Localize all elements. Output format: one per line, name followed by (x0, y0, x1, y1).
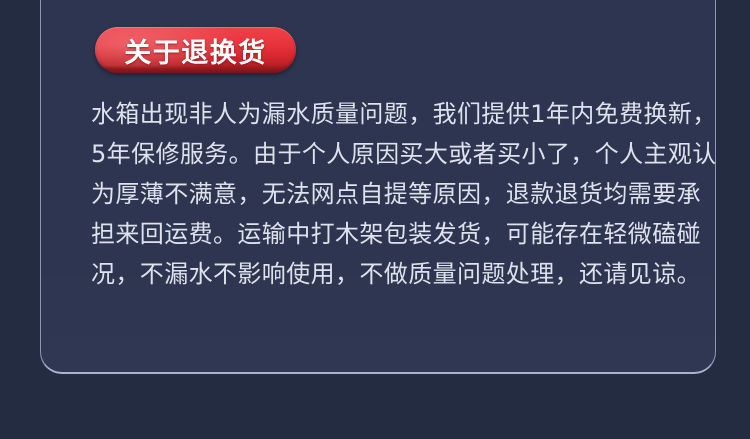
policy-text-block: 水箱出现非人为漏水质量问题，我们提供1年内免费换新， 5年保修服务。由于个人原因… (91, 94, 667, 294)
section-badge: 关于退换货 (95, 27, 296, 73)
badge-title: 关于退换货 (95, 27, 296, 73)
policy-text-line-5: 况，不漏水不影响使用，不做质量问题处理，还请见谅。 (91, 254, 667, 294)
policy-text-line-4: 担来回运费。运输中打木架包装发货，可能存在轻微磕碰 (91, 214, 667, 254)
policy-text-line-1: 水箱出现非人为漏水质量问题，我们提供1年内免费换新， (91, 94, 667, 134)
page-canvas: 关于退换货 水箱出现非人为漏水质量问题，我们提供1年内免费换新， 5年保修服务。… (0, 0, 750, 439)
policy-text-line-2: 5年保修服务。由于个人原因买大或者买小了，个人主观认 (91, 134, 667, 174)
policy-text-line-3: 为厚薄不满意，无法网点自提等原因，退款退货均需要承 (91, 174, 667, 214)
